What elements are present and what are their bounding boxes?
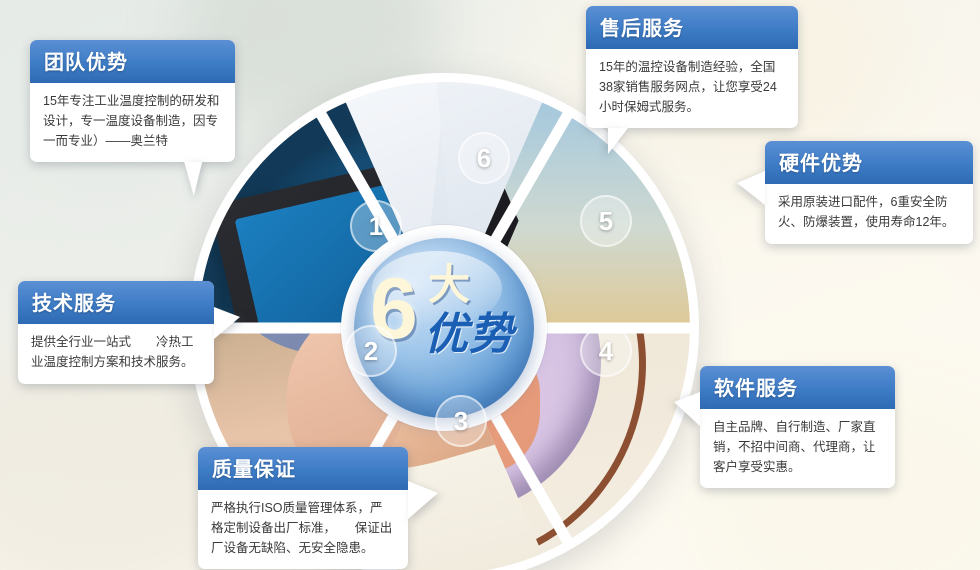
- segment-number-4[interactable]: 4: [580, 325, 632, 377]
- card-technical-service[interactable]: 技术服务 提供全行业一站式 冷热工业温度控制方案和技术服务。: [18, 281, 214, 384]
- segment-number-5[interactable]: 5: [580, 195, 632, 247]
- card-after-sales-service[interactable]: 售后服务 15年的温控设备制造经验，全国38家销售服务网点，让您享受24小时保姆…: [586, 6, 798, 128]
- card-title: 软件服务: [700, 366, 895, 409]
- card-body: 严格执行ISO质量管理体系，严格定制设备出厂标准， 保证出厂设备无缺陷、无安全隐…: [198, 490, 408, 569]
- card-title: 技术服务: [18, 281, 214, 324]
- card-body: 15年专注工业温度控制的研发和设计，专一温度设备制造，因专一而专业）——奥兰特: [30, 83, 235, 162]
- card-team-advantage[interactable]: 团队优势 15年专注工业温度控制的研发和设计，专一温度设备制造，因专一而专业）—…: [30, 40, 235, 162]
- card-hardware-advantage[interactable]: 硬件优势 采用原装进口配件，6重安全防火、防爆装置，使用寿命12年。: [765, 141, 973, 244]
- card-body: 15年的温控设备制造经验，全国38家销售服务网点，让您享受24小时保姆式服务。: [586, 49, 798, 128]
- segment-number-2[interactable]: 2: [345, 325, 397, 377]
- card-quality-assurance[interactable]: 质量保证 严格执行ISO质量管理体系，严格定制设备出厂标准， 保证出厂设备无缺陷…: [198, 447, 408, 569]
- card-title: 团队优势: [30, 40, 235, 83]
- card-title: 售后服务: [586, 6, 798, 49]
- card-software-service[interactable]: 软件服务 自主品牌、自行制造、厂家直销，不招中间商、代理商，让客户享受实惠。: [700, 366, 895, 488]
- segment-number-3[interactable]: 3: [435, 395, 487, 447]
- segment-number-1[interactable]: 1: [350, 200, 402, 252]
- infographic-canvas: 6 大 优势 1 2 3 4 5 6 团队优势 15年专注工业温度控制的研发和设…: [0, 0, 980, 570]
- emblem-word: 优势: [424, 312, 514, 358]
- card-body: 自主品牌、自行制造、厂家直销，不招中间商、代理商，让客户享受实惠。: [700, 409, 895, 488]
- card-pointer: [674, 392, 700, 426]
- card-title: 硬件优势: [765, 141, 973, 184]
- emblem-unit: 大: [428, 264, 470, 306]
- segment-number-6[interactable]: 6: [458, 132, 510, 184]
- card-body: 提供全行业一站式 冷热工业温度控制方案和技术服务。: [18, 324, 214, 384]
- card-body: 采用原装进口配件，6重安全防火、防爆装置，使用寿命12年。: [765, 184, 973, 244]
- card-pointer: [408, 481, 438, 519]
- card-title: 质量保证: [198, 447, 408, 490]
- card-pointer: [737, 171, 765, 205]
- card-pointer: [214, 307, 240, 339]
- card-pointer: [608, 128, 628, 154]
